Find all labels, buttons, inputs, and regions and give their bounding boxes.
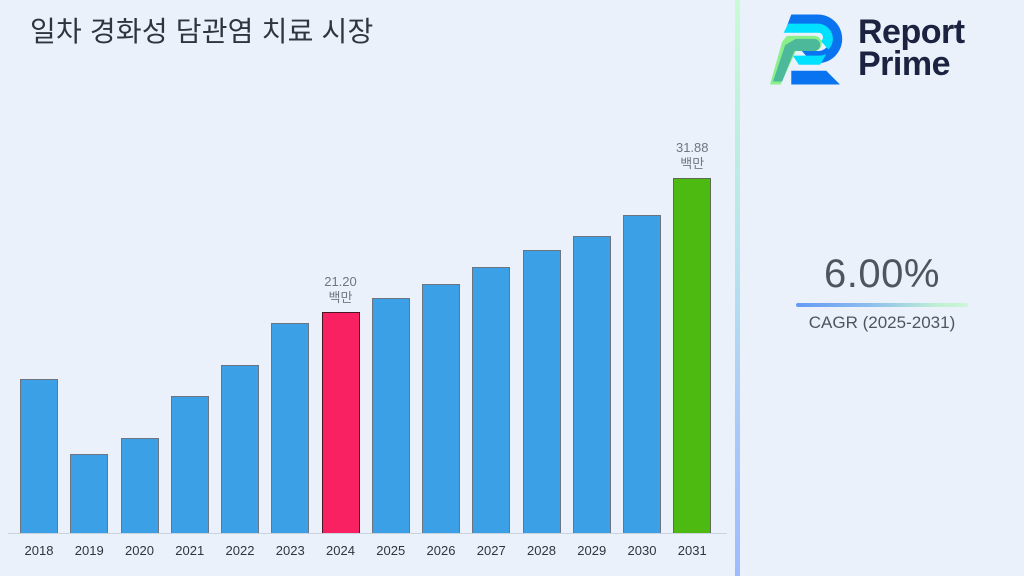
bar-2023[interactable] xyxy=(271,323,309,533)
cagr-block: 6.00% CAGR (2025-2031) xyxy=(740,252,1024,333)
report-prime-r-logo-icon xyxy=(770,8,846,88)
bar-2024[interactable] xyxy=(322,312,360,533)
brand-line-1: Report xyxy=(858,16,965,48)
chart-panel: 일차 경화성 담관염 치료 시장 21.20백만31.88백만 20182019… xyxy=(0,0,737,576)
bar-2020[interactable] xyxy=(121,438,159,533)
bar-2026[interactable] xyxy=(422,284,460,533)
bar-value-number: 31.88 xyxy=(676,140,709,156)
bar-value-unit: 백만 xyxy=(676,156,709,172)
brand-wordmark: Report Prime xyxy=(858,16,965,81)
bar-2025[interactable] xyxy=(372,298,410,533)
bar-2031[interactable] xyxy=(673,178,711,533)
screenshot-root: 일차 경화성 담관염 치료 시장 21.20백만31.88백만 20182019… xyxy=(0,0,1024,576)
bar-2021[interactable] xyxy=(171,396,209,533)
bar-value-number: 21.20 xyxy=(324,274,357,290)
bar-chart-plot: 21.20백만31.88백만 2018201920202021202220232… xyxy=(0,0,737,576)
cagr-gradient-rule xyxy=(796,303,968,307)
bar-2027[interactable] xyxy=(472,267,510,533)
bar-2028[interactable] xyxy=(523,250,561,533)
side-panel: Report Prime 6.00% CAGR (2025-2031) xyxy=(740,0,1024,576)
bar-2018[interactable] xyxy=(20,379,58,533)
x-tick-2031: 2031 xyxy=(662,543,722,558)
bar-value-label-2024: 21.20백만 xyxy=(324,274,357,306)
cagr-value: 6.00% xyxy=(740,252,1024,297)
brand-lockup[interactable]: Report Prime xyxy=(770,8,965,88)
bar-2019[interactable] xyxy=(70,454,108,533)
cagr-caption: CAGR (2025-2031) xyxy=(740,313,1024,333)
bar-2029[interactable] xyxy=(573,236,611,533)
bar-2030[interactable] xyxy=(623,215,661,533)
brand-line-2: Prime xyxy=(858,48,965,80)
x-axis-line xyxy=(8,533,727,534)
bar-2022[interactable] xyxy=(221,365,259,533)
bar-value-label-2031: 31.88백만 xyxy=(676,140,709,172)
bar-value-unit: 백만 xyxy=(324,290,357,306)
